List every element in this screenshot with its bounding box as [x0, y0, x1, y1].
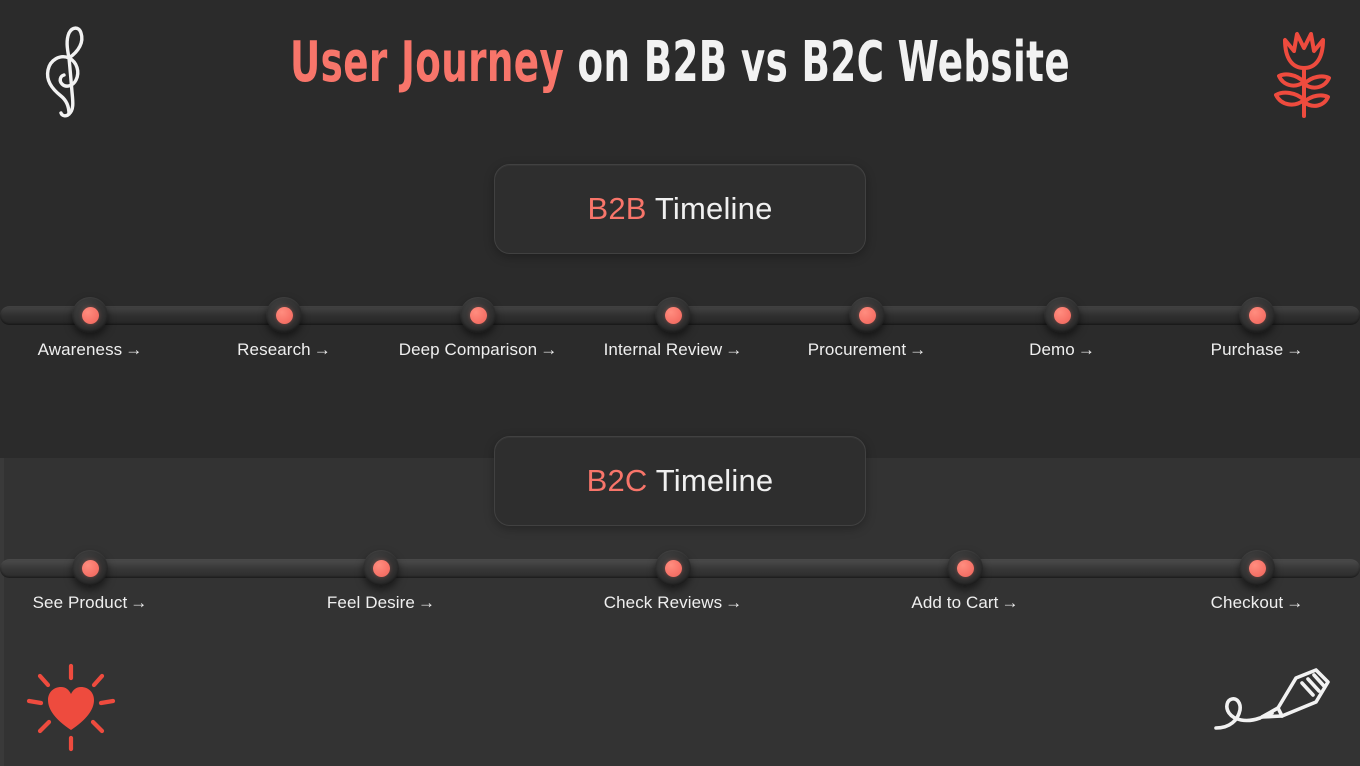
- timeline-node[interactable]: [655, 297, 691, 333]
- timeline-step-label: Demo→: [1029, 340, 1095, 360]
- timeline-step-label: Checkout→: [1211, 593, 1304, 613]
- timeline-step-label-text: Research: [237, 340, 311, 359]
- timeline-step-label-text: Internal Review: [604, 340, 723, 359]
- timeline-node-dot: [1249, 560, 1266, 577]
- arrow-right-icon: →: [1286, 340, 1303, 359]
- arrow-right-icon: →: [418, 593, 435, 612]
- timeline-node[interactable]: [947, 550, 983, 586]
- timeline-step-label-text: Procurement: [808, 340, 906, 359]
- timeline-node[interactable]: [655, 550, 691, 586]
- timeline-node-dot: [82, 560, 99, 577]
- timeline-step-label: Internal Review→: [604, 340, 743, 360]
- timeline-step-label-text: Check Reviews: [604, 593, 722, 612]
- timeline-step-label-text: Awareness: [38, 340, 123, 359]
- timeline-step-label: Feel Desire→: [327, 593, 435, 613]
- arrow-right-icon: →: [725, 593, 742, 612]
- slide-canvas: User Journey on B2B vs B2C Website: [0, 0, 1360, 766]
- timeline-step-label-text: Add to Cart: [911, 593, 998, 612]
- timeline-step-label-text: Purchase: [1211, 340, 1284, 359]
- timeline-node-dot: [276, 307, 293, 324]
- b2b-timeline-heading-text: B2B Timeline: [587, 191, 772, 227]
- timeline-step-label: Check Reviews→: [604, 593, 743, 613]
- timeline-step-label: Procurement→: [808, 340, 927, 360]
- timeline-step-label-text: See Product: [33, 593, 128, 612]
- timeline-node-dot: [82, 307, 99, 324]
- page-title-accent: User Journey: [290, 30, 564, 95]
- timeline-node[interactable]: [266, 297, 302, 333]
- b2c-timeline-heading: B2C Timeline: [494, 436, 866, 526]
- timeline-step-label: Research→: [237, 340, 331, 360]
- timeline-step-label: Purchase→: [1211, 340, 1304, 360]
- timeline-step-label-text: Feel Desire: [327, 593, 415, 612]
- timeline-step-label: Deep Comparison→: [399, 340, 558, 360]
- timeline-node-dot: [373, 560, 390, 577]
- header: User Journey on B2B vs B2C Website: [0, 0, 1360, 146]
- b2b-timeline: Awareness→Research→Deep Comparison→Inter…: [0, 282, 1360, 392]
- timeline-node-dot: [470, 307, 487, 324]
- arrow-right-icon: →: [909, 340, 926, 359]
- b2c-timeline: See Product→Feel Desire→Check Reviews→Ad…: [0, 535, 1360, 645]
- timeline-step-label: See Product→: [33, 593, 148, 613]
- timeline-node[interactable]: [72, 550, 108, 586]
- timeline-node-dot: [665, 307, 682, 324]
- b2b-heading-accent: B2B: [587, 191, 646, 226]
- treble-clef-icon: [36, 22, 102, 122]
- timeline-node[interactable]: [363, 550, 399, 586]
- timeline-step-label-text: Deep Comparison: [399, 340, 538, 359]
- timeline-node[interactable]: [1239, 550, 1275, 586]
- b2c-heading-accent: B2C: [587, 463, 648, 498]
- arrow-right-icon: →: [1078, 340, 1095, 359]
- timeline-node[interactable]: [460, 297, 496, 333]
- arrow-right-icon: →: [130, 593, 147, 612]
- timeline-node[interactable]: [72, 297, 108, 333]
- b2c-heading-plain: Timeline: [648, 463, 774, 498]
- timeline-node-dot: [957, 560, 974, 577]
- arrow-right-icon: →: [1286, 593, 1303, 612]
- arrow-right-icon: →: [540, 340, 557, 359]
- b2c-timeline-heading-text: B2C Timeline: [587, 463, 774, 499]
- timeline-node-dot: [1249, 307, 1266, 324]
- timeline-step-label-text: Demo: [1029, 340, 1075, 359]
- timeline-step-label: Add to Cart→: [911, 593, 1018, 613]
- timeline-step-label: Awareness→: [38, 340, 143, 360]
- b2b-timeline-heading: B2B Timeline: [494, 164, 866, 254]
- tulip-flower-icon: [1262, 18, 1346, 124]
- timeline-node[interactable]: [849, 297, 885, 333]
- page-title-plain: on B2B vs B2C Website: [564, 30, 1070, 95]
- arrow-right-icon: →: [725, 340, 742, 359]
- b2b-heading-plain: Timeline: [647, 191, 773, 226]
- sparkling-heart-icon: [22, 658, 120, 752]
- timeline-node-dot: [859, 307, 876, 324]
- pencil-squiggle-icon: [1212, 666, 1334, 740]
- timeline-node-dot: [1054, 307, 1071, 324]
- timeline-node[interactable]: [1239, 297, 1275, 333]
- timeline-node[interactable]: [1044, 297, 1080, 333]
- page-title: User Journey on B2B vs B2C Website: [177, 34, 1183, 93]
- arrow-right-icon: →: [1001, 593, 1018, 612]
- arrow-right-icon: →: [125, 340, 142, 359]
- timeline-node-dot: [665, 560, 682, 577]
- timeline-step-label-text: Checkout: [1211, 593, 1284, 612]
- arrow-right-icon: →: [314, 340, 331, 359]
